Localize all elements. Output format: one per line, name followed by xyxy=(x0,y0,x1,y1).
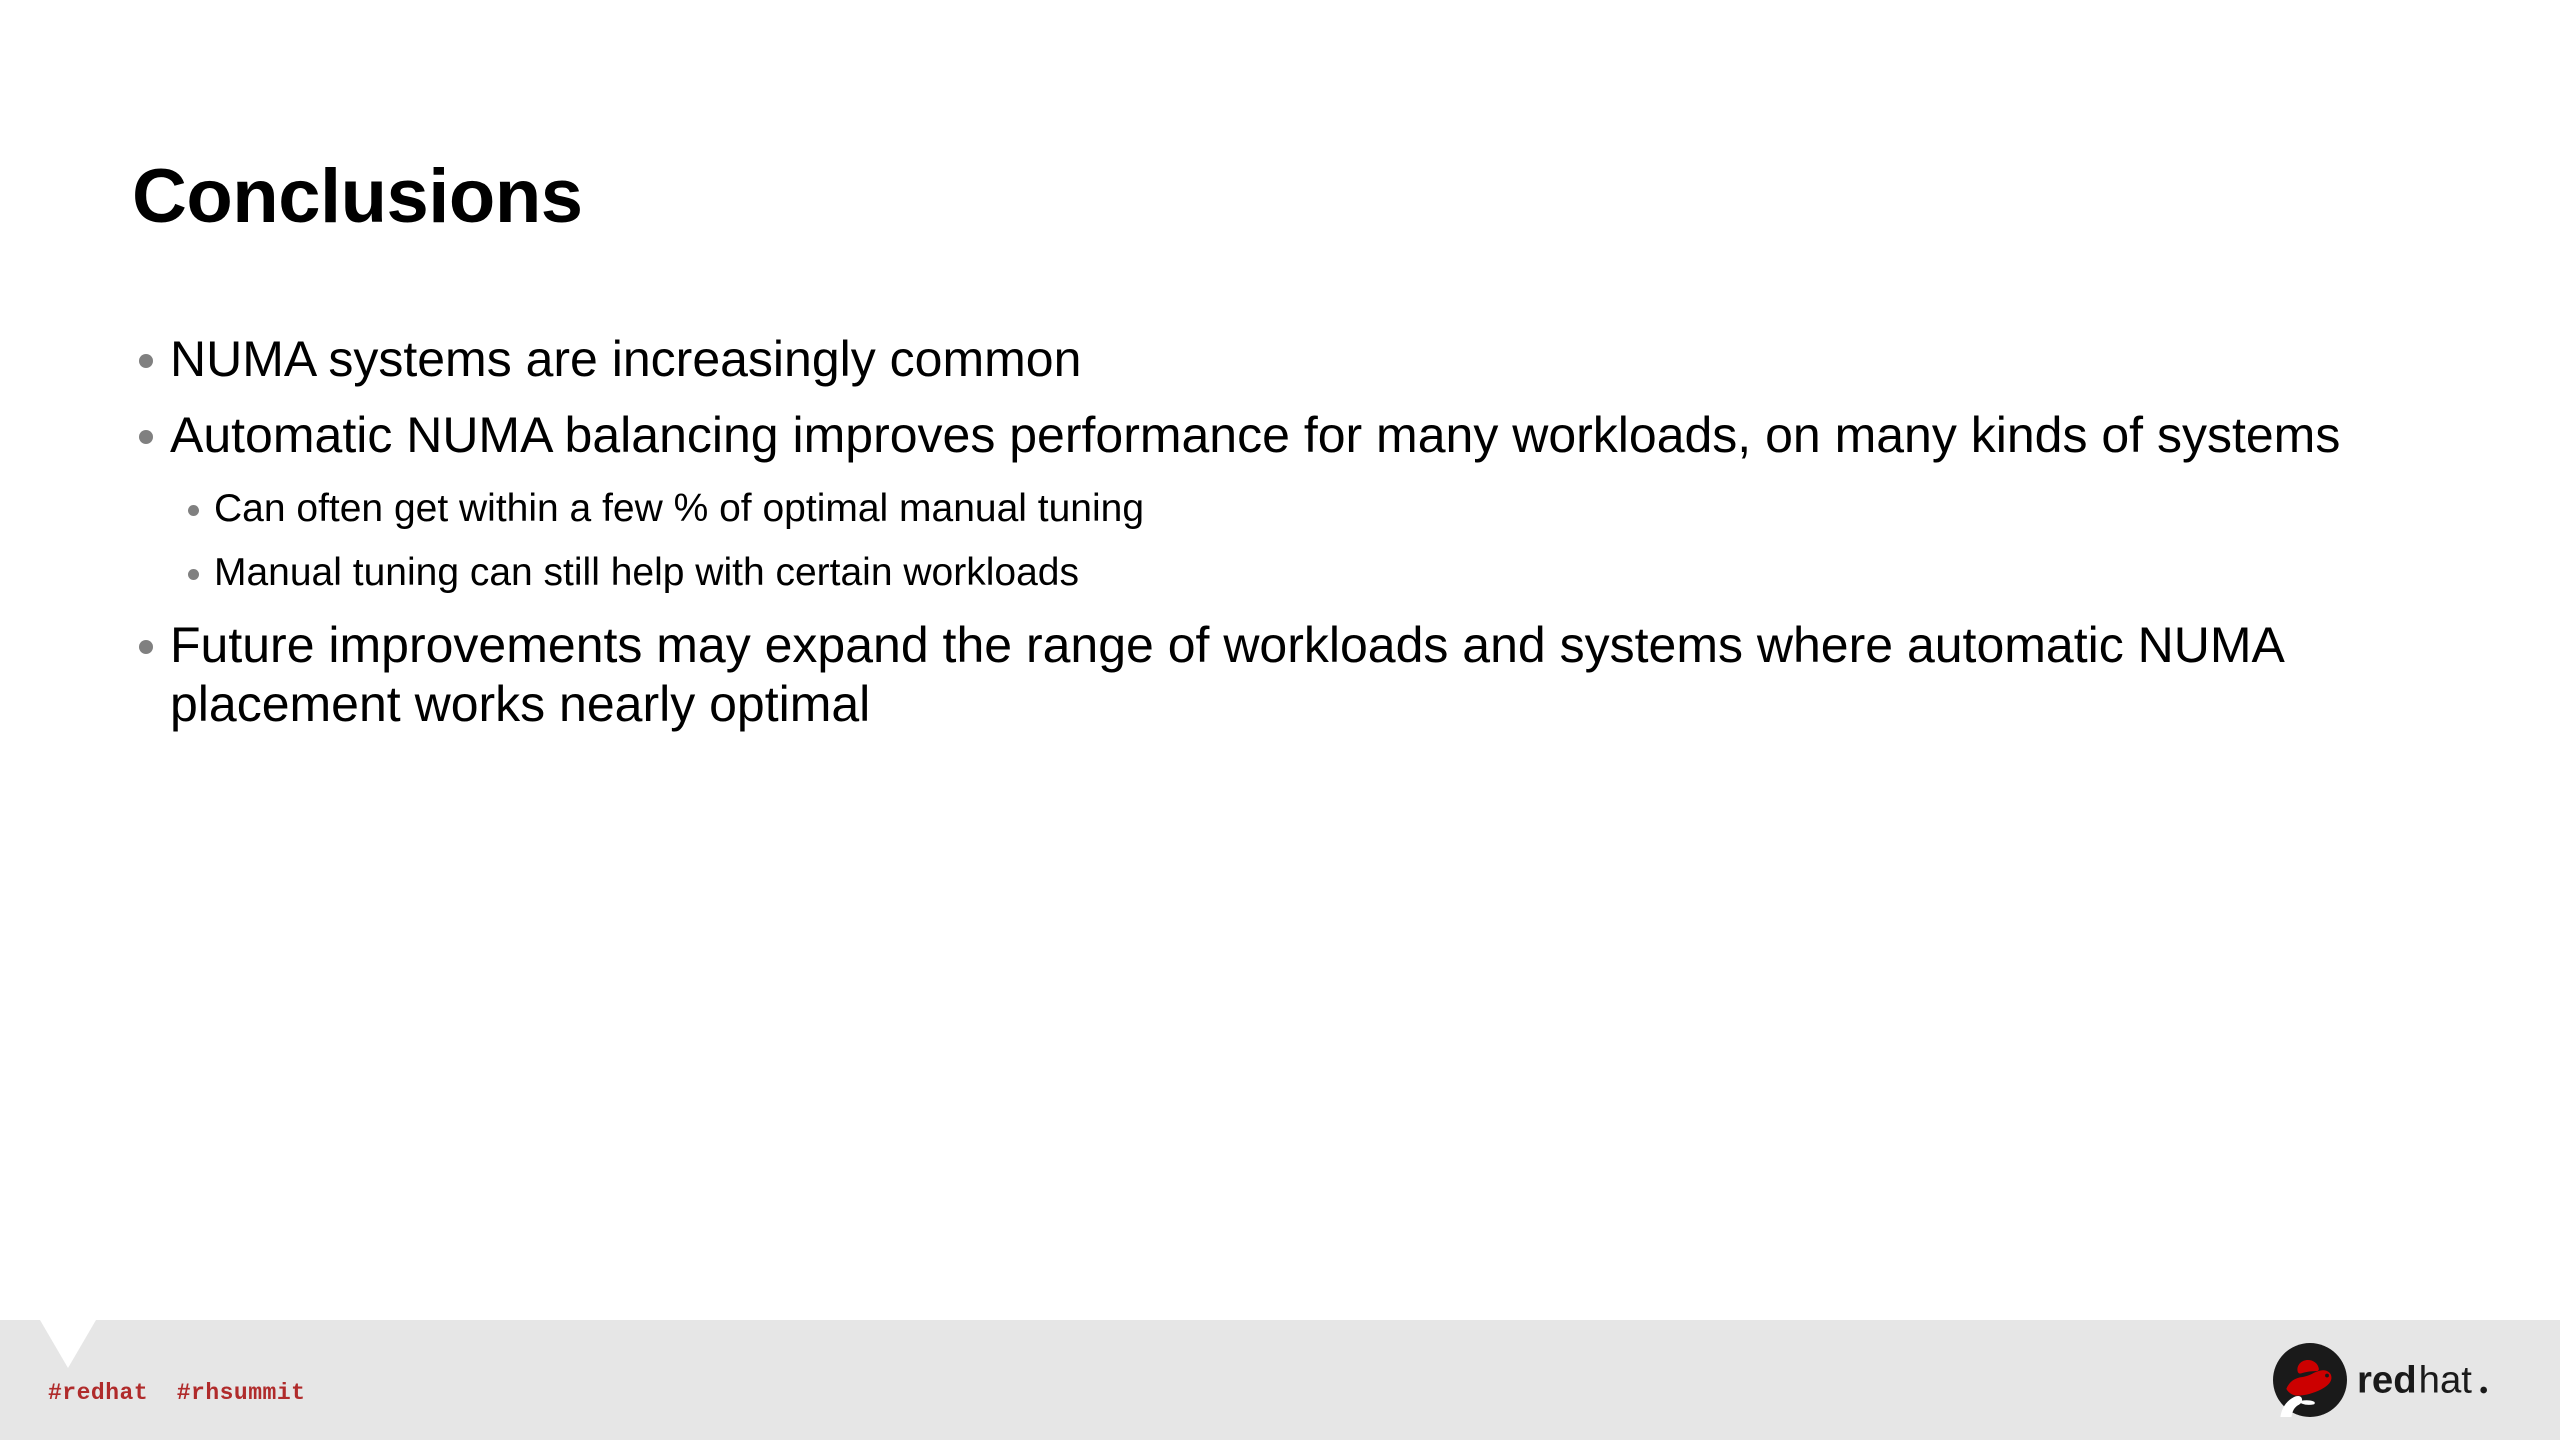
slide-body: NUMA systems are increasingly common Aut… xyxy=(132,330,2462,750)
bullet-dot-icon xyxy=(132,616,170,674)
bullet-item-level2: Manual tuning can still help with certai… xyxy=(182,550,2462,596)
bullet-dot-icon xyxy=(182,486,214,532)
footer-notch-triangle xyxy=(40,1320,96,1368)
bullet-text: Manual tuning can still help with certai… xyxy=(214,550,2462,596)
sub-bullet-group: Can often get within a few % of optimal … xyxy=(132,486,2462,596)
redhat-logo: red hat xyxy=(2273,1343,2532,1417)
bullet-text: Automatic NUMA balancing improves perfor… xyxy=(170,406,2350,465)
bullet-item-level1: Automatic NUMA balancing improves perfor… xyxy=(132,406,2462,465)
bullet-dot-icon xyxy=(132,330,170,388)
slide-canvas: Conclusions NUMA systems are increasingl… xyxy=(0,0,2560,1440)
bullet-item-level1: Future improvements may expand the range… xyxy=(132,616,2462,733)
bullet-item-level2: Can often get within a few % of optimal … xyxy=(182,486,2462,532)
footer-hashtags: #redhat #rhsummit xyxy=(48,1380,305,1406)
redhat-shadowman-icon xyxy=(2273,1343,2347,1417)
svg-text:red: red xyxy=(2357,1359,2417,1402)
redhat-wordmark: red hat xyxy=(2357,1355,2532,1405)
bullet-dot-icon xyxy=(132,406,170,464)
svg-text:hat: hat xyxy=(2419,1359,2473,1402)
bullet-item-level1: NUMA systems are increasingly common xyxy=(132,330,2462,389)
bullet-dot-icon xyxy=(182,550,214,596)
page-title: Conclusions xyxy=(132,159,583,235)
bullet-text: Can often get within a few % of optimal … xyxy=(214,486,2462,532)
slide-footer: #redhat #rhsummit red hat xyxy=(0,1320,2560,1440)
bullet-text: Future improvements may expand the range… xyxy=(170,616,2350,733)
bullet-text: NUMA systems are increasingly common xyxy=(170,330,2350,389)
